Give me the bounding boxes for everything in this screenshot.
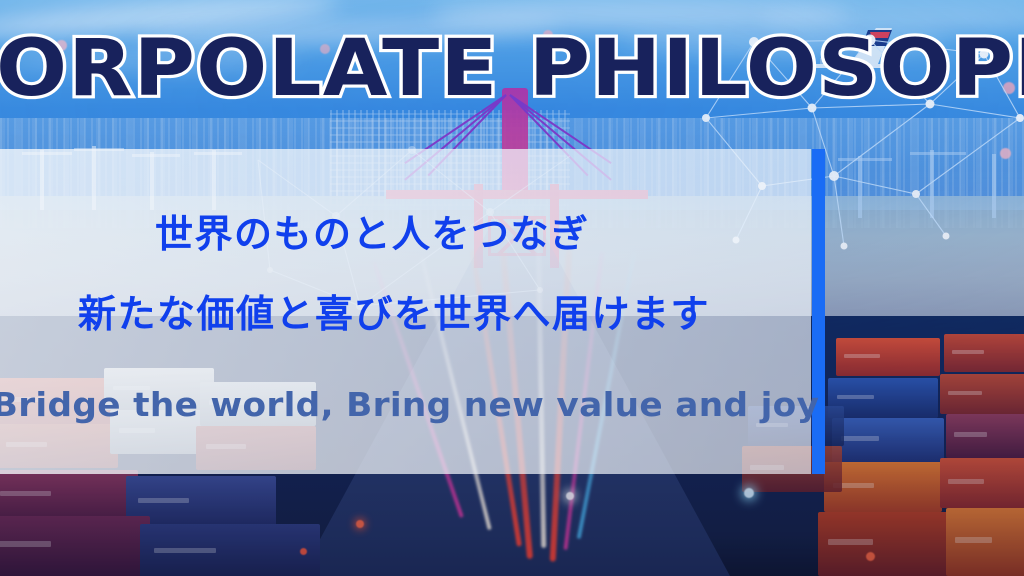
philosophy-line-1: 世界のものと人をつなぎ — [155, 212, 590, 256]
slide-canvas: CORPOLATE PHILOSOPHY 世界のものと人をつなぎ 新たな価値と喜… — [0, 0, 1024, 576]
page-title: CORPOLATE PHILOSOPHY — [0, 28, 1024, 109]
philosophy-tagline-en: Bridge the world, Bring new value and jo… — [0, 385, 827, 425]
philosophy-line-2: 新たな価値と喜びを世界へ届けます — [78, 292, 710, 336]
accent-bar — [812, 149, 825, 474]
